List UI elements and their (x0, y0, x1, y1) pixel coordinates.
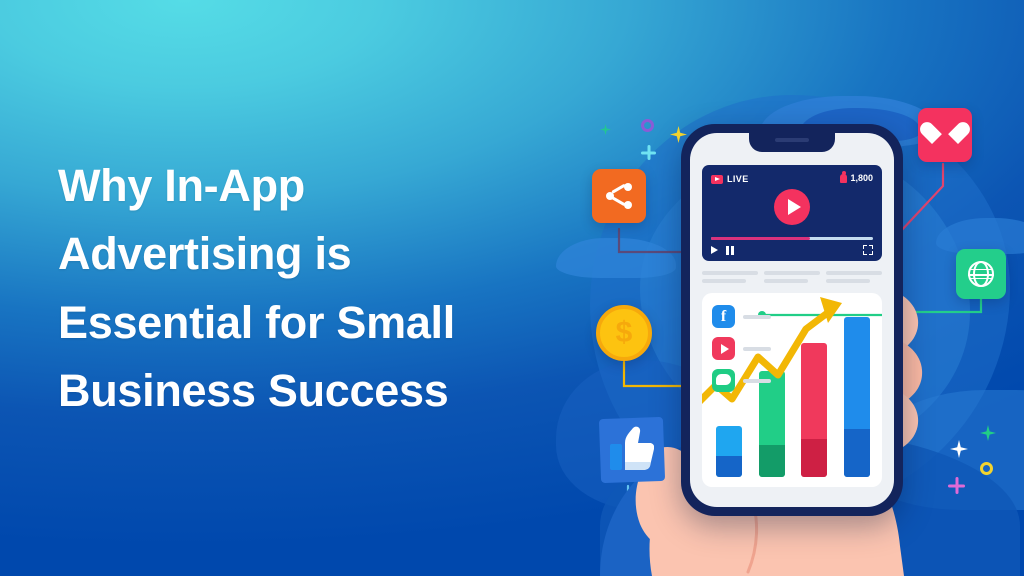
person-icon (840, 174, 847, 183)
plus-pink-sparkle (948, 477, 965, 494)
globe-icon (968, 261, 994, 287)
live-play-icon (711, 175, 723, 184)
placeholder-line (702, 271, 758, 275)
phone-screen: LIVE 1,800 (690, 133, 894, 507)
placeholder-line (826, 271, 882, 275)
placeholder-line (826, 279, 870, 283)
placeholder-line (743, 347, 771, 351)
placeholder-line (743, 315, 771, 319)
headline-line-1: Why In-App (58, 152, 578, 220)
dollar-sign: $ (616, 318, 633, 348)
dollar-coin-icon[interactable]: $ (596, 305, 652, 361)
analytics-card: f (702, 293, 882, 487)
live-label: LIVE (727, 174, 749, 184)
play-circle-icon[interactable] (774, 189, 810, 225)
youtube-icon[interactable] (712, 337, 735, 360)
smartphone-mockup: LIVE 1,800 (681, 124, 903, 516)
social-network-list: f (712, 305, 771, 392)
share-icon (606, 183, 632, 209)
plus-cyan-sparkle (641, 145, 656, 160)
facebook-icon[interactable]: f (712, 305, 735, 328)
in-app-advertising-banner: Why In-App Advertising is Essential for … (0, 0, 1024, 576)
video-player[interactable]: LIVE 1,800 (702, 165, 882, 261)
headline-line-2: Advertising is (58, 220, 578, 288)
viewer-count: 1,800 (840, 173, 873, 183)
video-progress-fill (711, 237, 810, 240)
heart-icon-tile[interactable] (918, 108, 972, 162)
headline-line-4: Business Success (58, 357, 578, 425)
phone-notch (749, 133, 835, 152)
video-controls (711, 245, 873, 255)
ring-purple-sparkle (641, 119, 654, 132)
viewer-count-value: 1,800 (850, 173, 873, 183)
list-item[interactable] (712, 337, 771, 360)
phone-speaker (775, 138, 809, 142)
share-icon-tile[interactable] (592, 169, 646, 223)
heart-icon (932, 123, 958, 147)
headline-line-3: Essential for Small (58, 289, 578, 357)
placeholder-column (764, 271, 820, 283)
feed-placeholder-rows (702, 271, 882, 283)
thumbs-up-icon-tile[interactable] (600, 418, 664, 482)
placeholder-line (702, 279, 746, 283)
fullscreen-icon[interactable] (863, 245, 873, 255)
placeholder-column (702, 271, 758, 283)
placeholder-line (764, 271, 820, 275)
thumbs-up-icon (610, 426, 654, 472)
ring-yellow-sparkle (980, 462, 993, 475)
chat-icon[interactable] (712, 369, 735, 392)
placeholder-column (826, 271, 882, 283)
video-progress-bar[interactable] (711, 237, 873, 240)
placeholder-line (743, 379, 771, 383)
list-item[interactable] (712, 369, 771, 392)
play-icon[interactable] (711, 246, 718, 254)
pause-icon[interactable] (726, 246, 734, 255)
live-badge: LIVE (711, 174, 749, 184)
globe-icon-tile[interactable] (956, 249, 1006, 299)
page-title: Why In-App Advertising is Essential for … (58, 152, 578, 426)
list-item[interactable]: f (712, 305, 771, 328)
placeholder-line (764, 279, 808, 283)
